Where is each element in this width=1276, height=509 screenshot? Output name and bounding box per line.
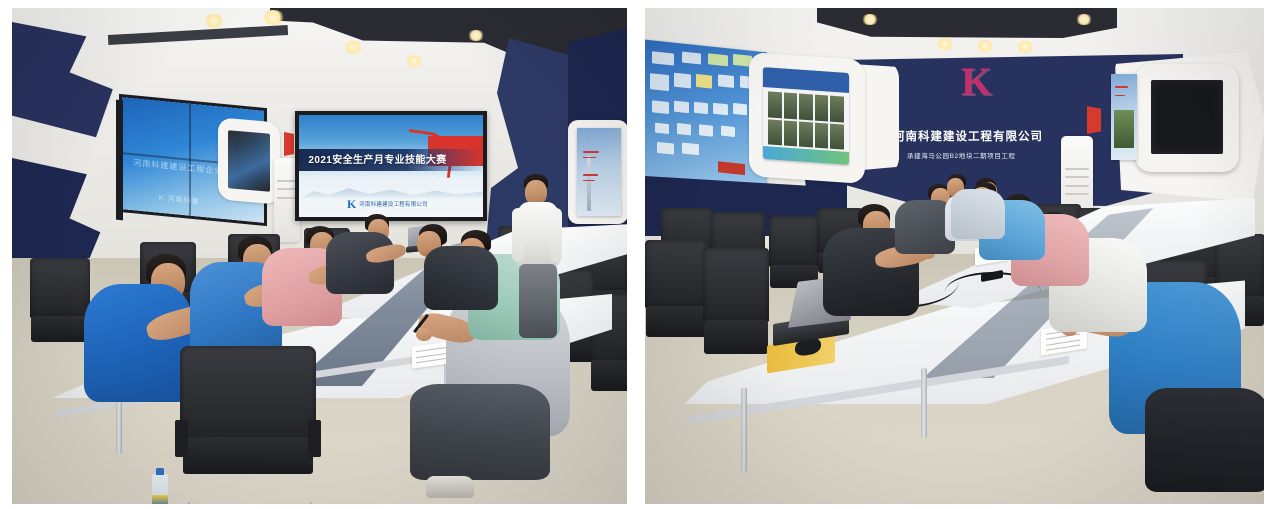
photo-cell bbox=[768, 91, 782, 118]
slide-mountain-graphic bbox=[299, 182, 483, 198]
poster-image-block bbox=[1114, 110, 1134, 148]
poster-tower-graphic bbox=[587, 156, 591, 211]
poster-line-1 bbox=[583, 151, 599, 153]
legs bbox=[519, 264, 557, 338]
photo-cell bbox=[799, 121, 813, 148]
ac-vent-3 bbox=[277, 197, 297, 199]
chart-node bbox=[650, 73, 670, 91]
ceiling-dark-panel-right bbox=[817, 8, 1117, 38]
company-name-sign: 河南科建建设工程有限公司 bbox=[893, 128, 1043, 144]
photo-cell bbox=[799, 93, 813, 120]
downlight-r1 bbox=[935, 38, 955, 50]
video-wall-frame-left bbox=[116, 100, 123, 221]
bottle-cap bbox=[156, 468, 164, 474]
k-logo-icon: K bbox=[347, 198, 356, 210]
chart-node bbox=[677, 123, 692, 135]
chart-node bbox=[733, 103, 748, 115]
chart-node bbox=[721, 125, 736, 137]
presentation-slide: 2021安全生产月专业技能大赛 K 河南科建建设工程有限公司 bbox=[299, 115, 483, 216]
torso bbox=[951, 189, 1005, 239]
project-name-sign: 承建海马公园B2地块二期项目工程 bbox=[907, 150, 1016, 160]
photo-left: 河南科建建设工程企业安全文 K 河南科建 2021安全生产月专业技能大赛 K bbox=[12, 8, 627, 504]
table-leg-r2 bbox=[921, 368, 927, 438]
chart-node-highlight bbox=[696, 74, 712, 89]
downlight-r4 bbox=[861, 14, 879, 25]
photo-display-board bbox=[763, 67, 849, 165]
chart-node bbox=[718, 74, 734, 88]
person-foreground-legs-right bbox=[1145, 388, 1264, 504]
ac-vent-1 bbox=[277, 180, 297, 182]
ac-vent-1 bbox=[1065, 168, 1089, 170]
person-dark-shirt-far bbox=[326, 214, 414, 290]
photo-cell bbox=[784, 92, 798, 119]
poster-line-3 bbox=[583, 174, 598, 176]
downlight-r3 bbox=[1015, 41, 1035, 53]
legs bbox=[1145, 388, 1264, 492]
chair-arm-left bbox=[175, 420, 189, 457]
poster-far-right bbox=[1111, 74, 1137, 160]
torso bbox=[326, 232, 394, 294]
poster-right bbox=[577, 128, 621, 216]
bottle-label bbox=[152, 495, 168, 504]
red-flag-left bbox=[284, 132, 294, 156]
downlight-r5 bbox=[1075, 14, 1093, 25]
slide-title: 2021安全生产月专业技能大赛 bbox=[308, 151, 446, 166]
shoe bbox=[426, 476, 474, 498]
ac-vent-3 bbox=[1065, 185, 1089, 187]
downlight-5 bbox=[467, 30, 485, 41]
chair-frame bbox=[188, 502, 312, 504]
chair-back bbox=[180, 346, 316, 440]
photo-cell bbox=[830, 123, 844, 150]
photo-board-grid bbox=[768, 91, 844, 150]
chair-foreground-empty bbox=[180, 346, 316, 504]
poster-line-2 bbox=[583, 157, 596, 158]
tv-screen-left bbox=[228, 130, 270, 192]
downlight-1 bbox=[202, 14, 226, 28]
downlight-r2 bbox=[975, 40, 995, 52]
chart-node bbox=[655, 122, 670, 134]
torso bbox=[424, 246, 498, 310]
person-foreground-seated-legs bbox=[410, 384, 560, 504]
board-red-tag bbox=[718, 162, 745, 176]
chart-node bbox=[682, 52, 702, 65]
photo-cell bbox=[815, 95, 829, 122]
downlight-4 bbox=[404, 55, 424, 67]
water-bottle bbox=[152, 474, 168, 504]
chart-node bbox=[708, 53, 728, 66]
tv-screen-right bbox=[1151, 80, 1223, 154]
chair-seat bbox=[183, 437, 314, 474]
slide-company-name: 河南科建建设工程有限公司 bbox=[359, 200, 427, 208]
poster-line-4 bbox=[583, 180, 595, 181]
photo-cell bbox=[768, 119, 782, 146]
chart-node bbox=[652, 100, 669, 114]
torso bbox=[84, 284, 192, 402]
person-dark-hair-mid-right bbox=[410, 224, 502, 308]
chart-node bbox=[674, 73, 691, 88]
photo-right: K 河南科建建设工程有限公司 承建海马公园B2地块二期项目工程 bbox=[645, 8, 1264, 504]
video-wall-logo-hint: K 河南科建 bbox=[159, 193, 200, 207]
ac-vent-2 bbox=[277, 188, 297, 190]
downlight-2 bbox=[260, 10, 286, 25]
photo-cell bbox=[815, 122, 829, 149]
downlight-3 bbox=[342, 41, 364, 54]
chair-left-1 bbox=[30, 258, 90, 354]
photo-cell bbox=[830, 96, 844, 123]
hand-writing bbox=[416, 328, 432, 341]
chart-node bbox=[657, 141, 674, 154]
chair-r-back-3 bbox=[645, 240, 707, 350]
chart-node bbox=[699, 124, 714, 136]
ac-vent-2 bbox=[1065, 176, 1089, 178]
poster-line-a bbox=[1115, 86, 1129, 88]
chart-node bbox=[713, 103, 728, 115]
screenshot-root: 河南科建建设工程企业安全文 K 河南科建 2021安全生产月专业技能大赛 K bbox=[0, 0, 1276, 509]
projection-screen: 2021安全生产月专业技能大赛 K 河南科建建设工程有限公司 bbox=[295, 111, 487, 221]
arm-right bbox=[550, 208, 562, 262]
poster-line-b bbox=[1115, 95, 1125, 96]
arm-left bbox=[512, 208, 524, 262]
chair-r-back-4 bbox=[703, 248, 769, 368]
legs bbox=[410, 384, 550, 480]
chart-node bbox=[674, 101, 689, 113]
chart-node bbox=[652, 51, 674, 66]
table-leg-r1 bbox=[741, 388, 747, 472]
photo-cell bbox=[784, 120, 798, 147]
person-standing-supervisor bbox=[510, 174, 562, 344]
chart-node bbox=[682, 143, 699, 156]
chair-arm-right bbox=[308, 420, 322, 457]
slide-logo-row: K 河南科建建设工程有限公司 bbox=[347, 198, 428, 210]
company-k-logo-icon: K bbox=[961, 62, 992, 102]
red-flag-right bbox=[1087, 106, 1101, 134]
chart-node bbox=[694, 102, 709, 114]
person-far-right-smallest bbox=[941, 174, 1011, 238]
